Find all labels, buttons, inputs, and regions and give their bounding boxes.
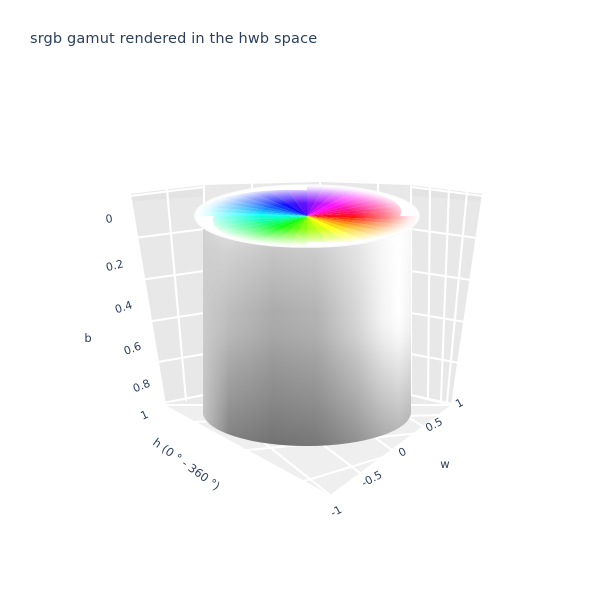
cylinder-surface[interactable] [203,224,411,446]
tick-w-1: 1 [453,396,465,411]
plot-root: srgb gamut rendered in the hwb space [0,0,600,600]
axis-title-b: b [84,331,91,345]
tick-b-02: 0.2 [105,257,125,274]
tick-b-1: 1 [139,408,151,423]
tick-b-0: 0 [105,212,114,226]
plot-3d-scene[interactable]: 0 0.2 0.4 0.6 0.8 1 1 0.5 0 -0.5 -1 b h … [0,0,600,600]
tick-b-04: 0.4 [113,298,134,316]
axis-title-w: w [440,457,449,471]
axis-title-h: h (0 ° - 360 °) [150,435,223,493]
cylinder-left-edge-shade [203,224,229,444]
hue-wheel-cap[interactable] [195,185,419,247]
cylinder-body-vertical-shade [203,224,411,446]
tick-w-n1: -1 [328,503,344,520]
tick-b-08: 0.8 [131,377,152,396]
tick-w-0: 0 [396,445,408,460]
tick-b-06: 0.6 [122,340,143,358]
tick-w-n05: -0.5 [359,468,384,490]
panel-left-wall [130,185,204,405]
